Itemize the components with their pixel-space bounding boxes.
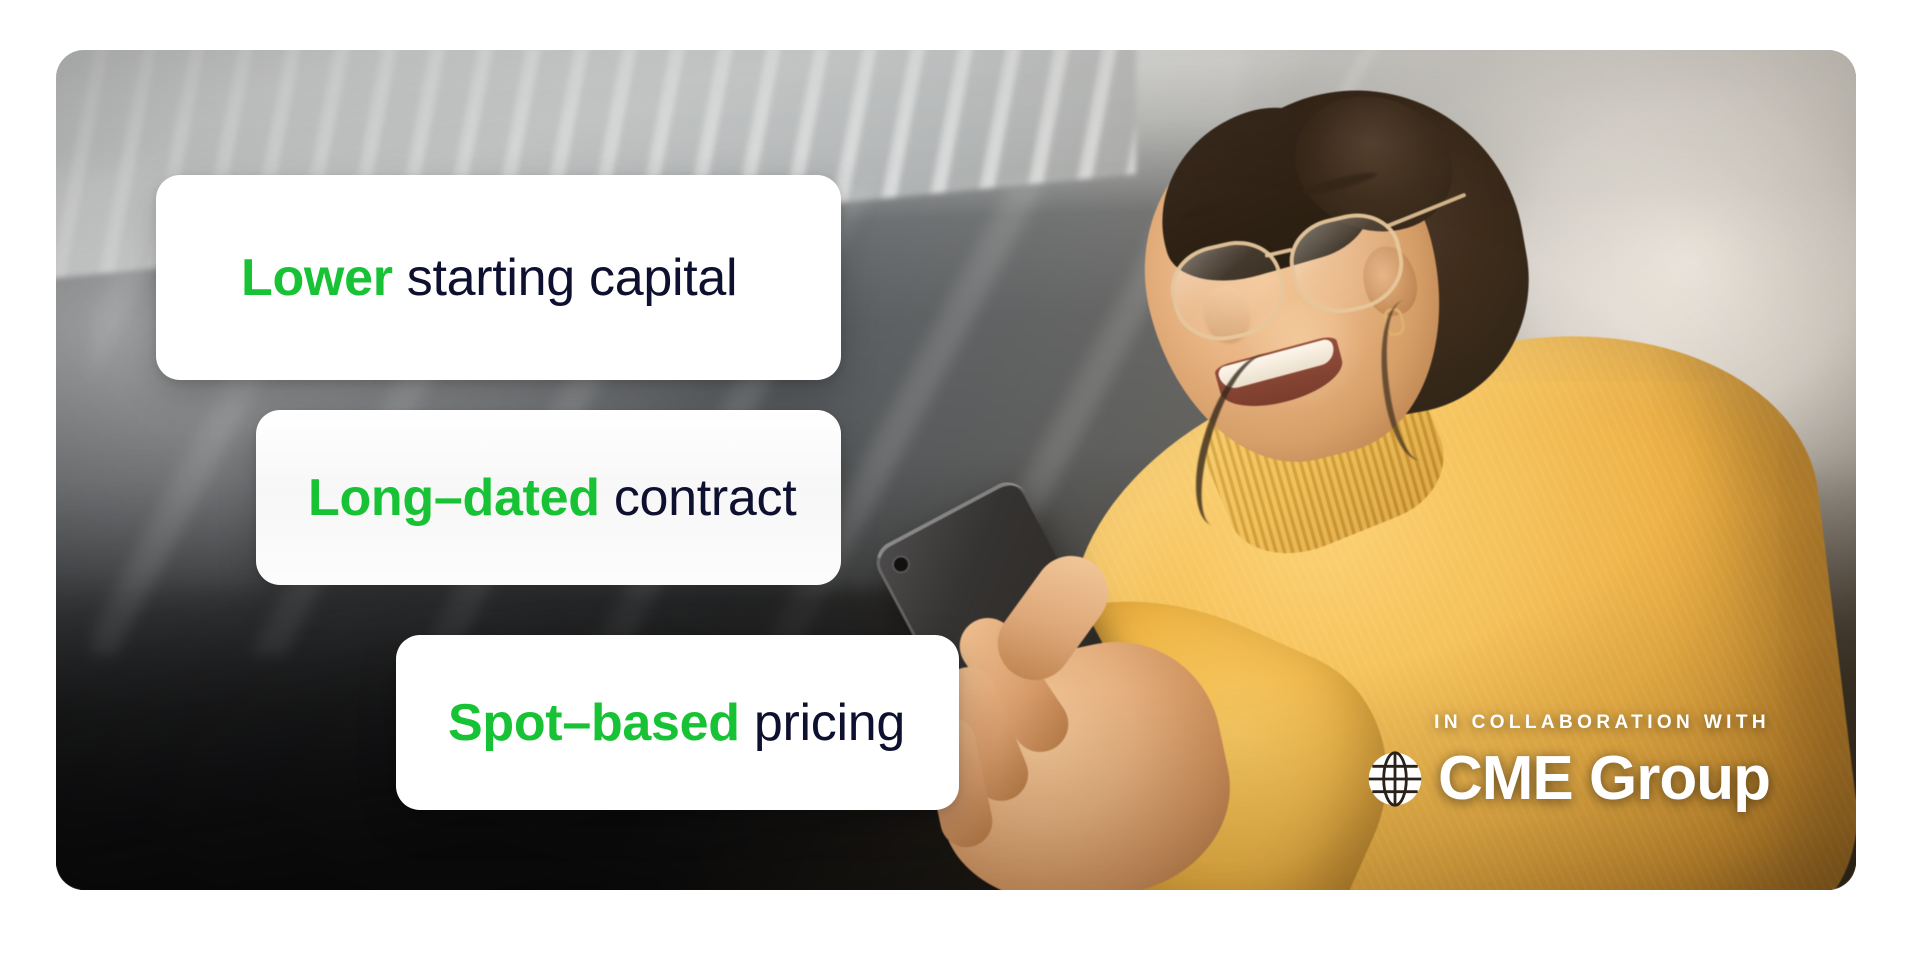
hero-banner: Lower starting capital Long–dated contra…	[56, 50, 1856, 890]
feature-card-text: Spot–based pricing	[448, 697, 905, 749]
globe-icon	[1366, 750, 1424, 808]
feature-rest: contract	[600, 469, 797, 527]
feature-card-text: Lower starting capital	[241, 252, 737, 304]
feature-card-lower-starting-capital: Lower starting capital	[156, 175, 841, 380]
feature-rest: pricing	[740, 694, 905, 752]
screenshot-root: Lower starting capital Long–dated contra…	[0, 0, 1920, 960]
feature-rest: starting capital	[393, 249, 738, 307]
feature-keyword: Long–dated	[308, 469, 600, 527]
feature-keyword: Spot–based	[448, 694, 740, 752]
cme-group-logo-lockup: CME Group	[1366, 748, 1770, 810]
glasses-bridge	[1265, 248, 1293, 258]
feature-card-long-dated-contract: Long–dated contract	[256, 410, 841, 585]
glasses-lens-left	[1163, 232, 1294, 351]
cme-group-wordmark: CME Group	[1438, 748, 1770, 810]
collaboration-label: IN COLLABORATION WITH	[1366, 712, 1770, 734]
feature-card-text: Long–dated contract	[308, 472, 796, 524]
feature-card-spot-based-pricing: Spot–based pricing	[396, 635, 959, 810]
collaboration-attribution: IN COLLABORATION WITH CME Group	[1366, 712, 1770, 810]
feature-keyword: Lower	[241, 249, 393, 307]
